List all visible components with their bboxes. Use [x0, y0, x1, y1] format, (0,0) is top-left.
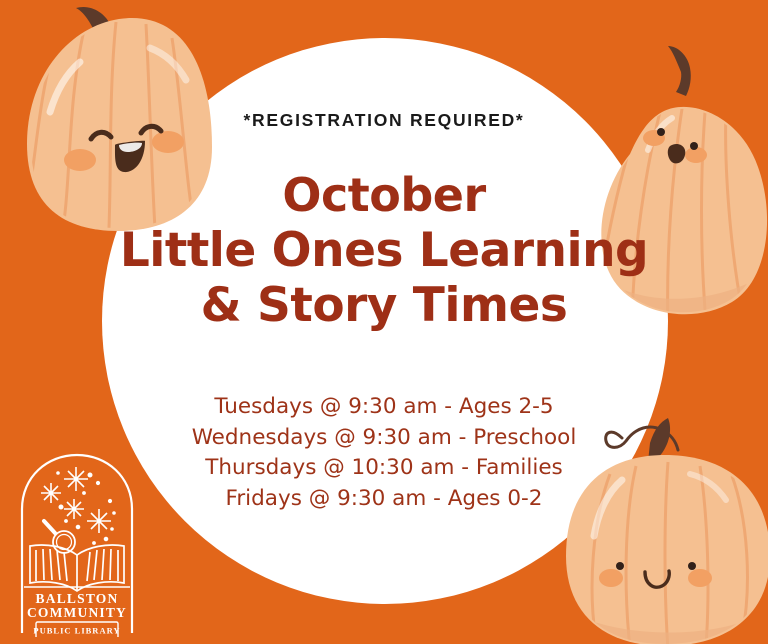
pumpkin-blush-left [64, 149, 96, 171]
logo-name-line-1: BALLSTON [36, 591, 119, 606]
pumpkin-stem-icon [668, 46, 691, 96]
pumpkin-body [27, 18, 212, 231]
pumpkin-top-left [18, 7, 214, 252]
pumpkin-eye-left-icon [616, 562, 624, 570]
pumpkin-eye-right-icon [688, 562, 696, 570]
pumpkin-bottom-right [560, 418, 768, 644]
open-book-icon [24, 545, 130, 591]
pumpkin-blush-right [688, 569, 712, 587]
logo-badge-label: PUBLIC LIBRARY [33, 626, 120, 636]
pumpkin-body [601, 107, 767, 314]
pumpkin-blush-right [152, 131, 184, 153]
logo-name-line-2: COMMUNITY [27, 605, 127, 620]
pumpkin-eye-left-icon [657, 128, 665, 136]
library-logo: BALLSTON COMMUNITY PUBLIC LIBRARY [14, 447, 140, 637]
poster-canvas: *REGISTRATION REQUIRED* October Little O… [0, 0, 768, 644]
pumpkin-blush-left [599, 569, 623, 587]
magnifying-glass-icon [44, 521, 75, 553]
pumpkin-right [590, 46, 768, 330]
pumpkin-eye-right-icon [690, 142, 698, 150]
